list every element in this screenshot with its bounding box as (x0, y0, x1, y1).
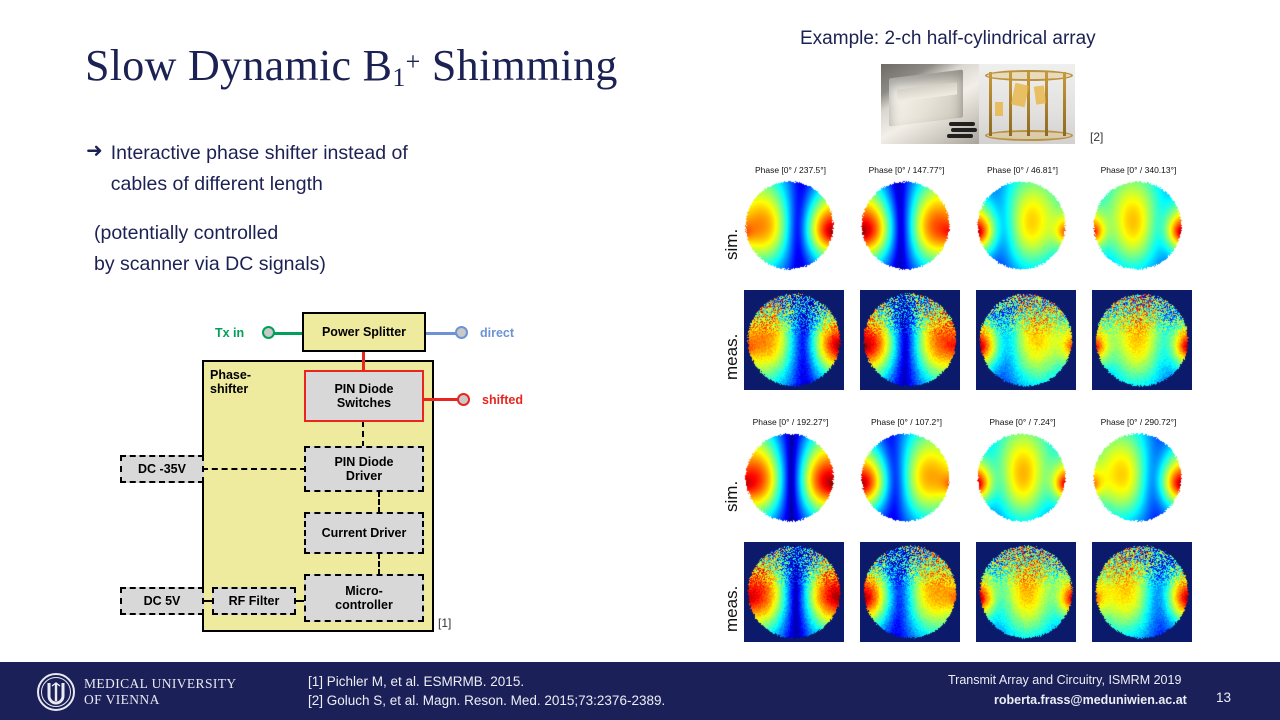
footer-references: [1] Pichler M, et al. ESMRMB. 2015. [2] … (308, 672, 665, 710)
bullet-sub-note: (potentially controlled by scanner via D… (94, 218, 524, 280)
label-tx-in: Tx in (215, 326, 244, 340)
bullet-text: Interactive phase shifter instead of cab… (111, 138, 408, 200)
title-main: Slow Dynamic B (85, 41, 392, 90)
3d-printed-phantom-holder-photo (881, 64, 979, 144)
measured-b1-map (976, 542, 1076, 642)
port-tx-in-icon[interactable] (262, 326, 275, 339)
label-shifted: shifted (482, 393, 523, 407)
measured-b1-map (860, 542, 960, 642)
simulated-b1-map (974, 430, 1069, 525)
simulated-b1-map (742, 178, 837, 273)
b1-map-grid: Phase [0° / 237.5°]Phase [0° / 147.77°]P… (700, 160, 1210, 650)
dash-wire-switches-to-driver (362, 421, 364, 447)
bullet-line-3: (potentially controlled (94, 222, 278, 244)
block-current-driver[interactable]: Current Driver (304, 512, 424, 554)
micro-line2: controller (335, 598, 393, 612)
citation-marker-1: [1] (438, 616, 451, 630)
row-label-sim: sim. (722, 481, 742, 512)
phase-shifter-label-line1: Phase- (210, 368, 251, 382)
half-cylindrical-coil-array-photo (979, 64, 1075, 144)
phase-caption: Phase [0° / 7.24°] (968, 417, 1077, 427)
title-superscript: + (406, 47, 421, 76)
title-tail: Shimming (421, 41, 618, 90)
simulated-b1-map (858, 178, 953, 273)
measured-b1-map (860, 290, 960, 390)
page-number: 13 (1216, 690, 1231, 705)
phase-caption: Phase [0° / 340.13°] (1084, 165, 1193, 175)
logo-line-2: OF VIENNA (84, 692, 160, 707)
dash-wire-driver-to-current (378, 491, 380, 513)
simulated-b1-map (974, 178, 1069, 273)
phase-caption: Phase [0° / 147.77°] (852, 165, 961, 175)
photo-pair (881, 64, 1075, 144)
measured-b1-map (976, 290, 1076, 390)
dash-wire-dc35-to-driver (202, 468, 306, 470)
simulated-b1-map (858, 430, 953, 525)
pin-switches-line1: PIN Diode (334, 382, 393, 396)
block-pin-diode-switches[interactable]: PIN Diode Switches (304, 370, 424, 422)
bullet-item-1: ➜ Interactive phase shifter instead of c… (86, 138, 556, 200)
footer-meta: Transmit Array and Circuitry, ISMRM 2019… (948, 670, 1187, 710)
phase-caption: Phase [0° / 192.27°] (736, 417, 845, 427)
block-pin-diode-driver[interactable]: PIN Diode Driver (304, 446, 424, 492)
block-rf-filter[interactable]: RF Filter (212, 587, 296, 615)
title-subscript: 1 (392, 63, 405, 92)
logo-line-1: MEDICAL UNIVERSITY (84, 676, 237, 691)
wire-shifted (424, 398, 458, 401)
block-power-splitter[interactable]: Power Splitter (302, 312, 426, 352)
pin-driver-line1: PIN Diode (334, 455, 393, 469)
phase-caption: Phase [0° / 46.81°] (968, 165, 1077, 175)
port-shifted-icon[interactable] (457, 393, 470, 406)
arrow-bullet-icon: ➜ (86, 138, 103, 164)
phase-shifter-block-diagram: Phase- shifter Power Splitter PIN Diode … (110, 300, 570, 645)
reference-1: [1] Pichler M, et al. ESMRMB. 2015. (308, 674, 524, 689)
simulated-b1-map (1090, 178, 1185, 273)
wire-tx-in (274, 332, 304, 335)
pin-driver-line2: Driver (346, 469, 382, 483)
citation-marker-2: [2] (1090, 130, 1103, 144)
measured-b1-map (1092, 542, 1192, 642)
phase-caption: Phase [0° / 237.5°] (736, 165, 845, 175)
measured-b1-map (744, 542, 844, 642)
phase-shifter-label-line2: shifter (210, 382, 248, 396)
reference-2: [2] Goluch S, et al. Magn. Reson. Med. 2… (308, 693, 665, 708)
wire-splitter-to-switches (362, 352, 365, 371)
simulated-b1-map (1090, 430, 1185, 525)
phase-shifter-label: Phase- shifter (210, 368, 296, 397)
row-label-sim: sim. (722, 229, 742, 260)
phase-caption: Phase [0° / 107.2°] (852, 417, 961, 427)
slide-root: Slow Dynamic B1+ Shimming ➜ Interactive … (0, 0, 1280, 720)
port-direct-icon[interactable] (455, 326, 468, 339)
block-dc-5v[interactable]: DC 5V (120, 587, 204, 615)
bullet-line-2: cables of different length (111, 173, 323, 195)
micro-line1: Micro- (345, 584, 383, 598)
block-microcontroller[interactable]: Micro- controller (304, 574, 424, 622)
med-uni-vienna-logo-icon (36, 672, 76, 712)
row-label-meas: meas. (722, 334, 742, 380)
pin-switches-line2: Switches (337, 396, 391, 410)
simulated-b1-map (742, 430, 837, 525)
block-dc-minus-35v[interactable]: DC -35V (120, 455, 204, 483)
phase-caption: Phase [0° / 290.72°] (1084, 417, 1193, 427)
bullet-block: ➜ Interactive phase shifter instead of c… (86, 138, 556, 200)
dash-wire-current-to-micro (378, 553, 380, 575)
row-label-meas: meas. (722, 586, 742, 632)
bullet-line-1: Interactive phase shifter instead of (111, 142, 408, 164)
label-direct: direct (480, 326, 514, 340)
author-email[interactable]: roberta.frass@meduniwien.ac.at (994, 693, 1187, 707)
conference-title: Transmit Array and Circuitry, ISMRM 2019 (948, 673, 1181, 687)
footer-logo-text: MEDICAL UNIVERSITY OF VIENNA (84, 676, 237, 708)
measured-b1-map (744, 290, 844, 390)
wire-direct (426, 332, 456, 335)
example-heading: Example: 2-ch half-cylindrical array (800, 28, 1096, 50)
page-title: Slow Dynamic B1+ Shimming (85, 40, 618, 93)
bullet-line-4: by scanner via DC signals) (94, 253, 326, 275)
measured-b1-map (1092, 290, 1192, 390)
